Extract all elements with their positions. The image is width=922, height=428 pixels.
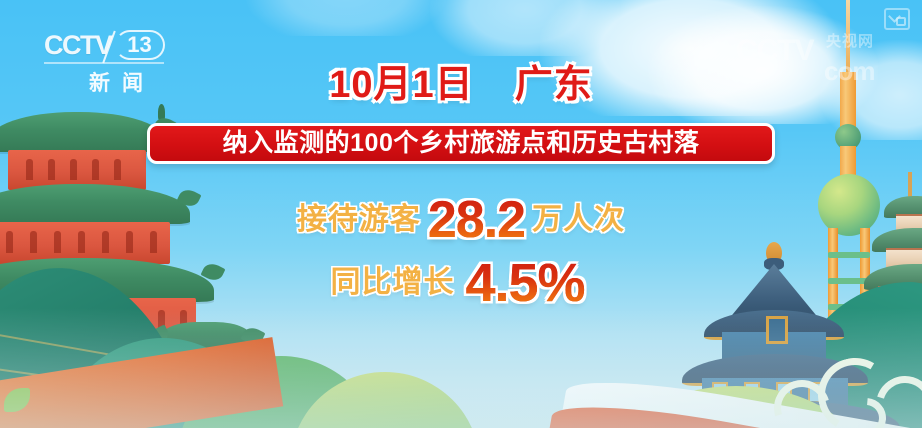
- picture-in-picture-icon[interactable]: [884, 8, 910, 30]
- stat-label-visitors: 接待游客: [297, 205, 421, 235]
- statistic-row-growth: 同比增长 4.5% 4.5%: [0, 256, 922, 310]
- statistic-row-visitors: 接待游客 28.2 28.2 万人次: [0, 194, 922, 246]
- stat-label-growth: 同比增长: [330, 268, 454, 298]
- stat-value-visitors-wrap: 28.2 28.2: [428, 194, 525, 246]
- stat-value-visitors: 28.2: [428, 191, 525, 249]
- headline-date: 10月1日: [329, 64, 473, 106]
- logo-channel-number: 13: [127, 34, 151, 56]
- pip-inner-frame: [896, 17, 906, 26]
- logo-cctv-text: CCTV: [44, 32, 112, 59]
- headline-date-region: 10月1日 广东: [0, 66, 922, 104]
- pagoda-roof-tier: [0, 112, 166, 152]
- headline-region: 广东: [515, 64, 593, 106]
- stat-unit-visitors: 万人次: [532, 205, 625, 235]
- auspicious-cloud-swirl: [772, 352, 922, 428]
- banner-text: 纳入监测的100个乡村旅游点和历史古村落: [223, 131, 700, 156]
- temple-window: [766, 316, 788, 344]
- watermark-brand: CCTV: [736, 34, 814, 67]
- broadcast-graphic-stage: CCTV 13 新闻 CCTV 央视网 com 10月1日 广东 纳入监测的10…: [0, 0, 922, 428]
- logo-underline: [44, 62, 164, 64]
- logo-channel-number-badge: 13: [115, 30, 165, 60]
- stat-value-growth-wrap: 4.5% 4.5%: [465, 256, 584, 310]
- logo-slash-divider: [102, 31, 116, 64]
- red-subtitle-banner: 纳入监测的100个乡村旅游点和历史古村落: [147, 123, 775, 164]
- logo-top-row: CCTV 13: [44, 30, 186, 60]
- cloud-decoration: [430, 0, 620, 56]
- cloud-decoration: [246, 0, 446, 36]
- stat-value-growth: 4.5%: [465, 253, 584, 313]
